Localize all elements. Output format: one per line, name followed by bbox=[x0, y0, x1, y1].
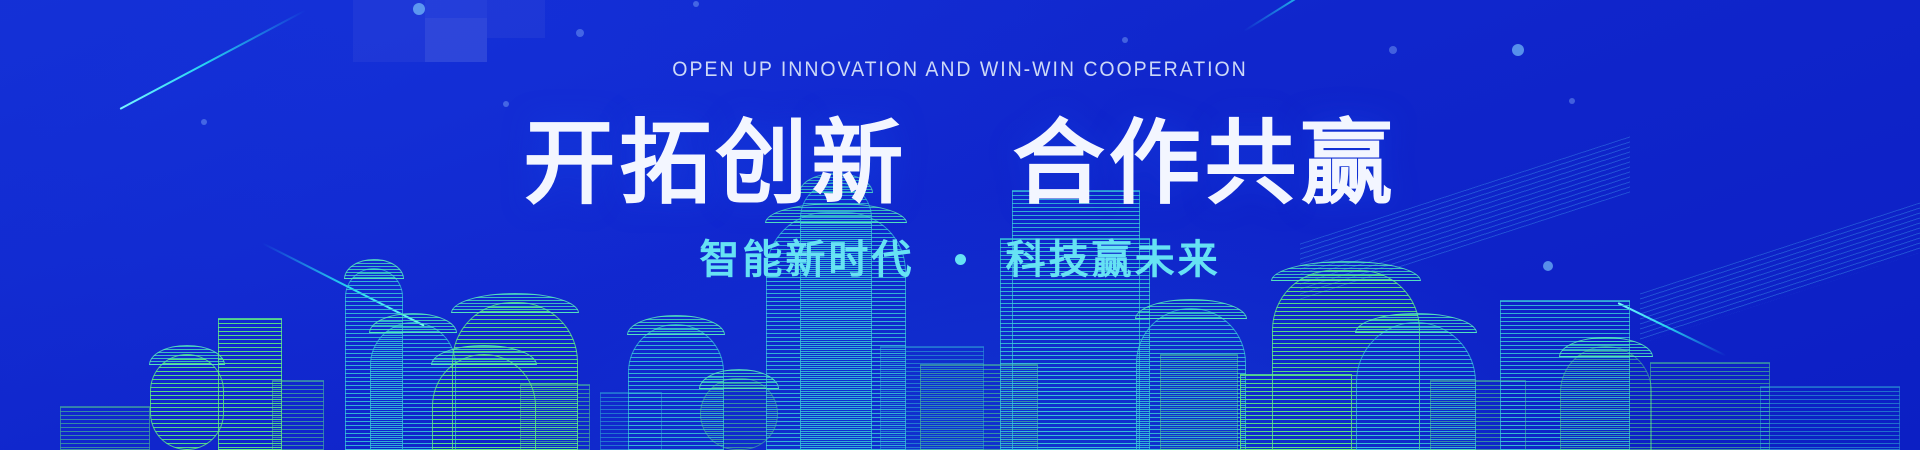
banner-headline: 开拓创新 合作共赢 bbox=[0, 118, 1920, 210]
subtitle-phrase-right: 科技赢未来 bbox=[1006, 238, 1221, 282]
banner-content: OPEN UP INNOVATION AND WIN-WIN COOPERATI… bbox=[0, 0, 1920, 450]
banner-subtitle: 智能新时代 • 科技赢未来 bbox=[0, 240, 1920, 280]
hero-banner: OPEN UP INNOVATION AND WIN-WIN COOPERATI… bbox=[0, 0, 1920, 450]
subtitle-separator-dot-icon bbox=[955, 254, 966, 265]
headline-phrase-left: 开拓创新 bbox=[523, 113, 907, 215]
headline-phrase-right: 合作共赢 bbox=[1013, 113, 1397, 215]
banner-eyebrow-text: OPEN UP INNOVATION AND WIN-WIN COOPERATI… bbox=[67, 58, 1853, 82]
subtitle-phrase-left: 智能新时代 bbox=[699, 238, 914, 282]
